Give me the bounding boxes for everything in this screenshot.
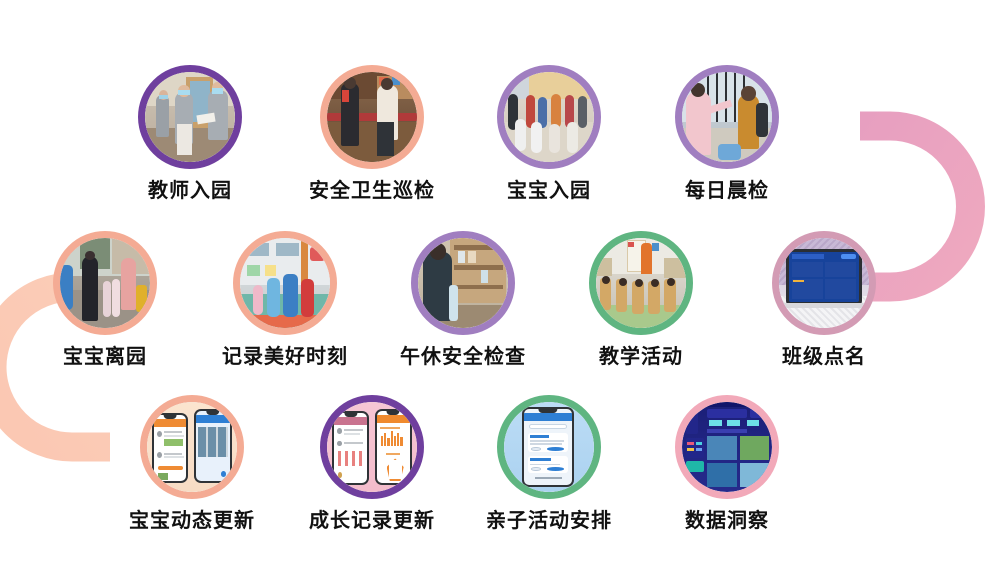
node-photo — [779, 238, 869, 328]
node-photo — [147, 402, 237, 492]
caption-child-arrival: 宝宝入园 — [469, 180, 629, 200]
node-record-moment[interactable] — [233, 231, 337, 335]
ribbon-turn-right — [860, 126, 971, 287]
node-ring — [233, 231, 337, 335]
caption-morning-exam: 每日晨检 — [647, 180, 807, 200]
node-teaching[interactable] — [589, 231, 693, 335]
node-roll-call[interactable] — [772, 231, 876, 335]
node-ring — [320, 395, 424, 499]
caption-nap-safety: 午休安全检查 — [383, 346, 543, 366]
node-nap-safety[interactable] — [411, 231, 515, 335]
node-photo — [682, 402, 772, 492]
caption-safety-check: 安全卫生巡检 — [292, 180, 452, 200]
node-photo — [327, 402, 417, 492]
node-teacher-arrival[interactable] — [138, 65, 242, 169]
node-ring — [675, 395, 779, 499]
caption-roll-call: 班级点名 — [744, 346, 904, 366]
node-parent-activity[interactable] — [497, 395, 601, 499]
phone-feed-left — [152, 413, 188, 483]
phone-growth-right — [375, 409, 412, 485]
node-ring — [320, 65, 424, 169]
node-photo — [596, 238, 686, 328]
node-ring — [497, 395, 601, 499]
node-photo — [145, 72, 235, 162]
node-child-arrival[interactable] — [497, 65, 601, 169]
node-photo — [504, 402, 594, 492]
node-ring — [138, 65, 242, 169]
phone-growth-left — [332, 411, 369, 485]
node-photo — [682, 72, 772, 162]
node-child-feed[interactable] — [140, 395, 244, 499]
caption-child-leave: 宝宝离园 — [25, 346, 185, 366]
node-ring — [772, 231, 876, 335]
caption-child-feed: 宝宝动态更新 — [112, 510, 272, 530]
node-growth-record[interactable] — [320, 395, 424, 499]
phone-feed-right — [194, 409, 232, 483]
caption-teacher-arrival: 教师入园 — [110, 180, 270, 200]
node-photo — [504, 72, 594, 162]
node-data-insight[interactable] — [675, 395, 779, 499]
node-ring — [589, 231, 693, 335]
node-photo — [418, 238, 508, 328]
node-safety-check[interactable] — [320, 65, 424, 169]
caption-growth-record: 成长记录更新 — [292, 510, 452, 530]
caption-parent-activity: 亲子活动安排 — [469, 510, 629, 530]
node-ring — [675, 65, 779, 169]
caption-data-insight: 数据洞察 — [647, 510, 807, 530]
node-photo — [240, 238, 330, 328]
node-photo — [60, 238, 150, 328]
phone-activity — [522, 407, 574, 486]
node-ring — [411, 231, 515, 335]
flow-diagram: 教师入园 安全卫生巡检 — [0, 0, 1000, 563]
node-ring — [497, 65, 601, 169]
node-ring — [53, 231, 157, 335]
caption-teaching: 教学活动 — [561, 346, 721, 366]
tablet-device — [786, 249, 862, 305]
node-ring — [140, 395, 244, 499]
node-child-leave[interactable] — [53, 231, 157, 335]
node-morning-exam[interactable] — [675, 65, 779, 169]
node-photo — [327, 72, 417, 162]
caption-record-moment: 记录美好时刻 — [205, 346, 365, 366]
